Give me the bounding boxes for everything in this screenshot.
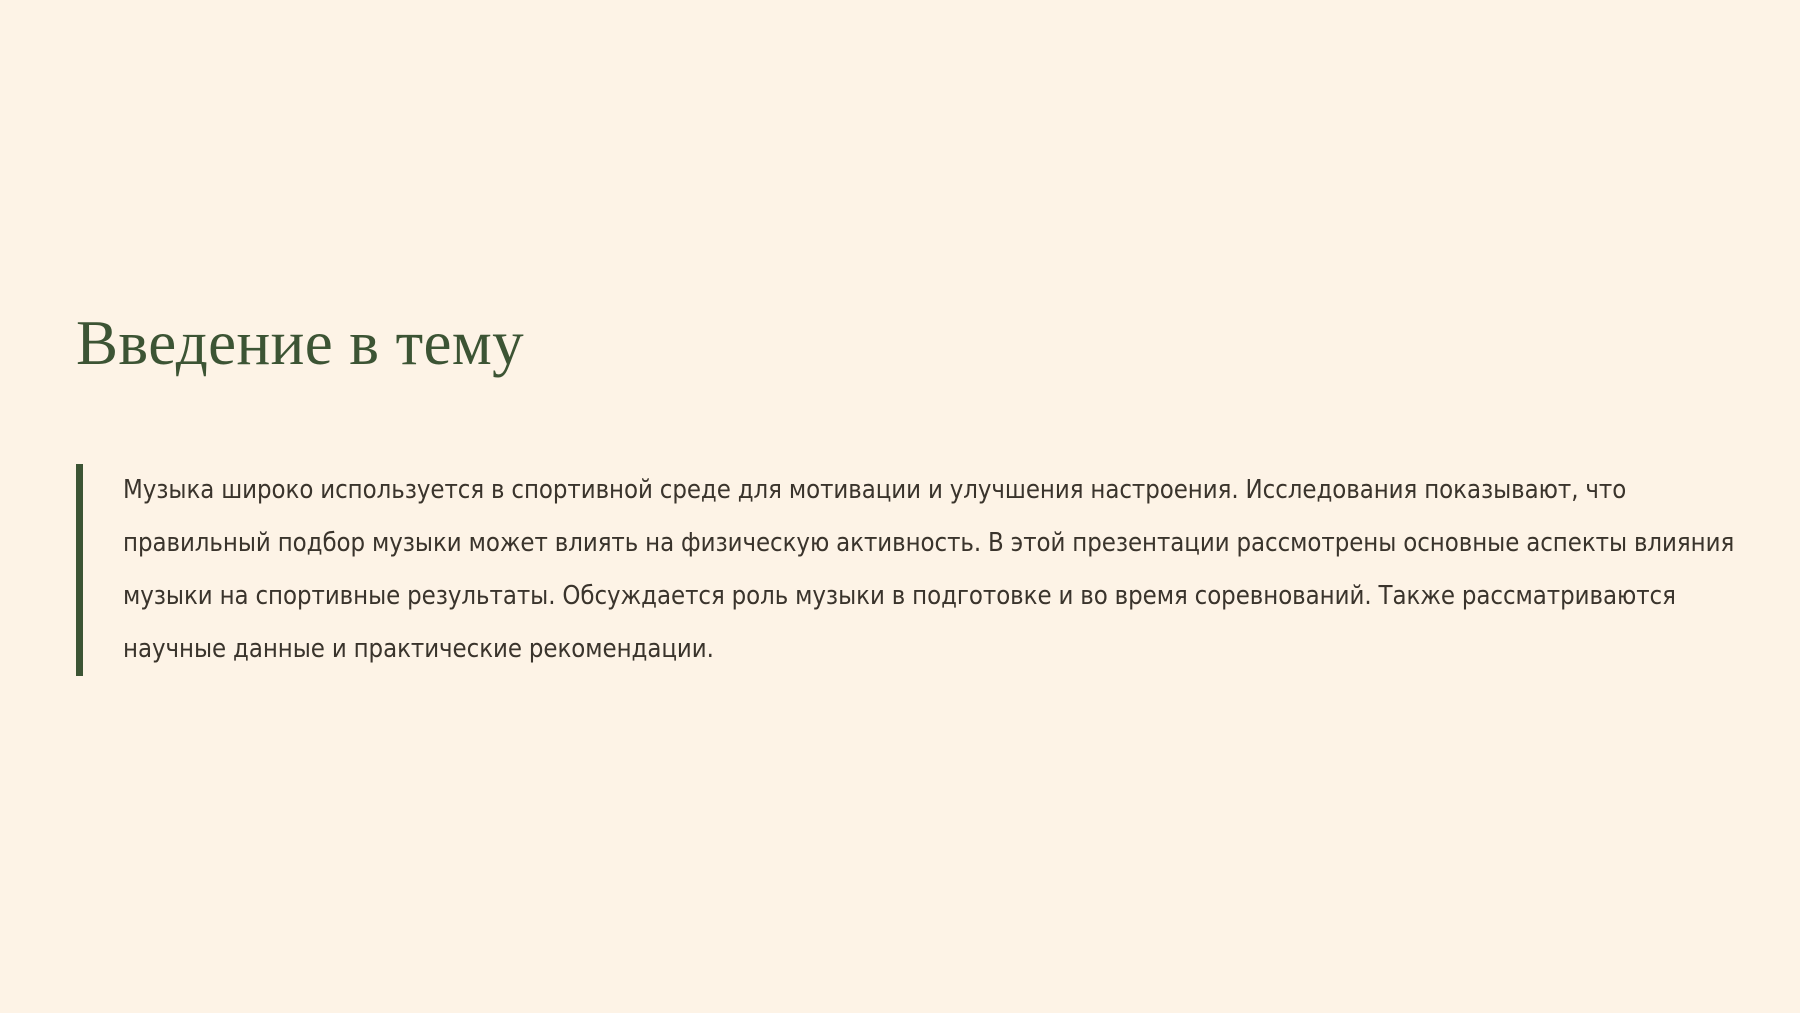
slide-body-text: Музыка широко используется в спортивной … xyxy=(83,464,1736,676)
presentation-slide: Введение в тему Музыка широко использует… xyxy=(0,0,1800,1013)
body-callout-block: Музыка широко используется в спортивной … xyxy=(76,464,1736,676)
accent-bar xyxy=(76,464,83,676)
slide-title: Введение в тему xyxy=(76,308,524,379)
